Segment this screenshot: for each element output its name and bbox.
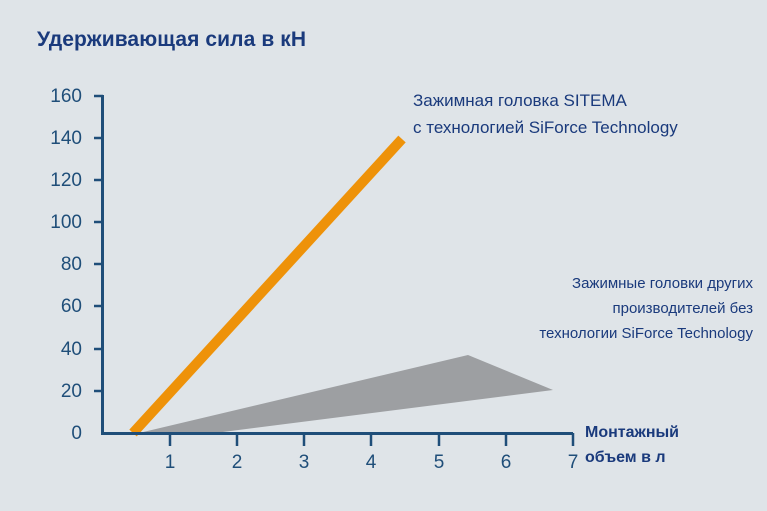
y-tick-label-20: 20 <box>30 381 82 403</box>
x-tick-label-1: 1 <box>155 452 185 474</box>
series-label-others: Зажимные головки других производителей б… <box>539 271 753 346</box>
y-tick-label-0: 0 <box>30 423 82 445</box>
y-tick-label-160: 160 <box>30 86 82 108</box>
y-tick-label-100: 100 <box>30 212 82 234</box>
series-label-sitema: Зажимная головка SITEMA с технологией Si… <box>413 87 678 141</box>
x-tick-label-7: 7 <box>558 452 588 474</box>
x-tick-label-4: 4 <box>356 452 386 474</box>
y-tick-label-120: 120 <box>30 170 82 192</box>
x-axis-title: Монтажный объем в л <box>585 420 679 470</box>
series-label-sitema-line1: Зажимная головка SITEMA <box>413 87 678 114</box>
series-label-sitema-line2: с технологией SiForce Technology <box>413 114 678 141</box>
x-tick-label-5: 5 <box>424 452 454 474</box>
series-label-others-line3: технологии SiForce Technology <box>539 321 753 346</box>
series-label-others-line2: производителей без <box>539 296 753 321</box>
x-tick-label-2: 2 <box>222 452 252 474</box>
y-tick-label-40: 40 <box>30 339 82 361</box>
chart-canvas: Удерживающая сила в кН <box>0 0 767 511</box>
y-tick-label-80: 80 <box>30 254 82 276</box>
x-tick-label-6: 6 <box>491 452 521 474</box>
x-tick-label-3: 3 <box>289 452 319 474</box>
x-axis-title-line1: Монтажный <box>585 420 679 445</box>
x-axis-title-line2: объем в л <box>585 445 679 470</box>
series-others-area <box>139 355 553 433</box>
series-label-others-line1: Зажимные головки других <box>539 271 753 296</box>
y-tick-label-140: 140 <box>30 128 82 150</box>
y-tick-label-60: 60 <box>30 296 82 318</box>
